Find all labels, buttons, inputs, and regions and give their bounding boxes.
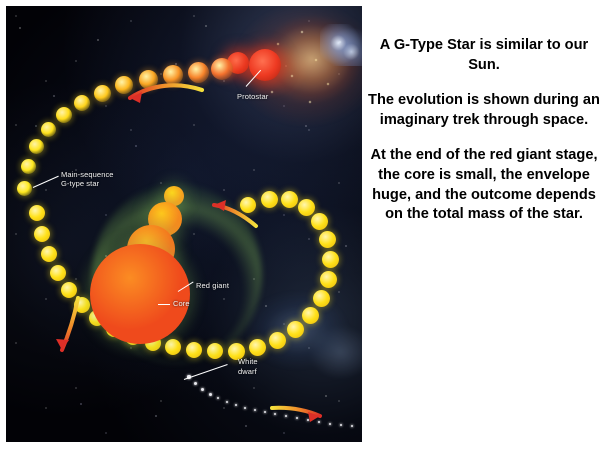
caption-paragraph-2: The evolution is shown during an imagina… — [368, 91, 600, 130]
slide-root: Protostar Main-sequence G-type star Red … — [0, 0, 600, 450]
core-leader-line — [158, 304, 170, 305]
caption-paragraph-1: A G-Type Star is similar to our Sun. — [368, 36, 600, 75]
arrow-red-giant-inbound — [214, 200, 256, 226]
arrow-white-dwarf-outbound — [272, 408, 320, 422]
red-giant-label: Red giant — [196, 281, 229, 290]
main-sequence-label-line2: G-type star — [61, 179, 99, 188]
caption-paragraph-3: At the end of the red giant stage, the c… — [368, 146, 600, 224]
white-dwarf-label-line2: dwarf — [238, 367, 257, 376]
arrow-protostar-inbound — [130, 85, 202, 103]
white-dwarf-label-line1: White — [238, 357, 258, 366]
protostar-label: Protostar — [237, 92, 268, 101]
caption-text-block: A G-Type Star is similar to our Sun. The… — [368, 36, 600, 225]
main-sequence-label-line1: Main-sequence — [61, 170, 114, 179]
caption-panel: A G-Type Star is similar to our Sun. The… — [368, 0, 600, 450]
direction-arrows — [6, 6, 362, 442]
stellar-evolution-diagram: Protostar Main-sequence G-type star Red … — [6, 6, 362, 442]
arrow-main-sequence-descending — [56, 298, 78, 350]
core-label: Core — [173, 299, 190, 308]
